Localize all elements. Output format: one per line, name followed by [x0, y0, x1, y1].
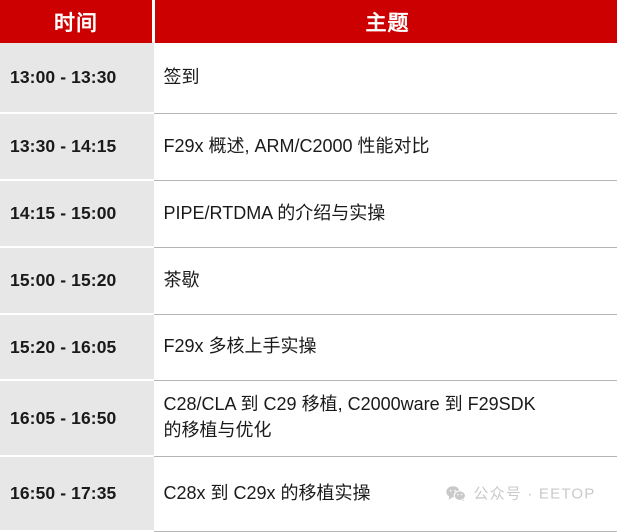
topic-line: C28x 到 C29x 的移植实操	[164, 481, 608, 507]
cell-topic: C28x 到 C29x 的移植实操 公众号 · EETOP	[154, 456, 617, 531]
topic-line: 签到	[164, 65, 608, 91]
table-body: 13:00 - 13:30 签到 13:30 - 14:15 F29x 概述, …	[0, 43, 617, 531]
table-row: 16:05 - 16:50 C28/CLA 到 C29 移植, C2000war…	[0, 380, 617, 456]
table-row: 16:50 - 17:35 C28x 到 C29x 的移植实操 公众号 · EE	[0, 456, 617, 531]
cell-time: 14:15 - 15:00	[0, 180, 154, 247]
cell-time: 15:00 - 15:20	[0, 247, 154, 314]
cell-time: 13:00 - 13:30	[0, 43, 154, 113]
topic-line: C28/CLA 到 C29 移植, C2000ware 到 F29SDK	[164, 392, 608, 418]
cell-topic: 茶歇	[154, 247, 617, 314]
topic-line: F29x 概述, ARM/C2000 性能对比	[164, 134, 608, 160]
cell-time: 16:50 - 17:35	[0, 456, 154, 531]
topic-line: PIPE/RTDMA 的介绍与实操	[164, 201, 608, 227]
topic-line: F29x 多核上手实操	[164, 334, 608, 360]
table-header: 时间 主题	[0, 0, 617, 43]
topic-line: 的移植与优化	[164, 418, 608, 444]
table-row: 14:15 - 15:00 PIPE/RTDMA 的介绍与实操	[0, 180, 617, 247]
cell-topic: F29x 多核上手实操	[154, 314, 617, 380]
table-row: 13:00 - 13:30 签到	[0, 43, 617, 113]
cell-topic: PIPE/RTDMA 的介绍与实操	[154, 180, 617, 247]
header-row: 时间 主题	[0, 0, 617, 43]
cell-time: 15:20 - 16:05	[0, 314, 154, 380]
topic-line: 茶歇	[164, 268, 608, 294]
table-row: 15:20 - 16:05 F29x 多核上手实操	[0, 314, 617, 380]
header-cell-topic: 主题	[154, 0, 617, 43]
table-row: 13:30 - 14:15 F29x 概述, ARM/C2000 性能对比	[0, 113, 617, 180]
cell-topic: C28/CLA 到 C29 移植, C2000ware 到 F29SDK 的移植…	[154, 380, 617, 456]
cell-topic: F29x 概述, ARM/C2000 性能对比	[154, 113, 617, 180]
cell-time: 13:30 - 14:15	[0, 113, 154, 180]
header-cell-time: 时间	[0, 0, 154, 43]
cell-time: 16:05 - 16:50	[0, 380, 154, 456]
table-row: 15:00 - 15:20 茶歇	[0, 247, 617, 314]
agenda-table: 时间 主题 13:00 - 13:30 签到 13:30 - 14:15 F29…	[0, 0, 617, 532]
cell-topic: 签到	[154, 43, 617, 113]
